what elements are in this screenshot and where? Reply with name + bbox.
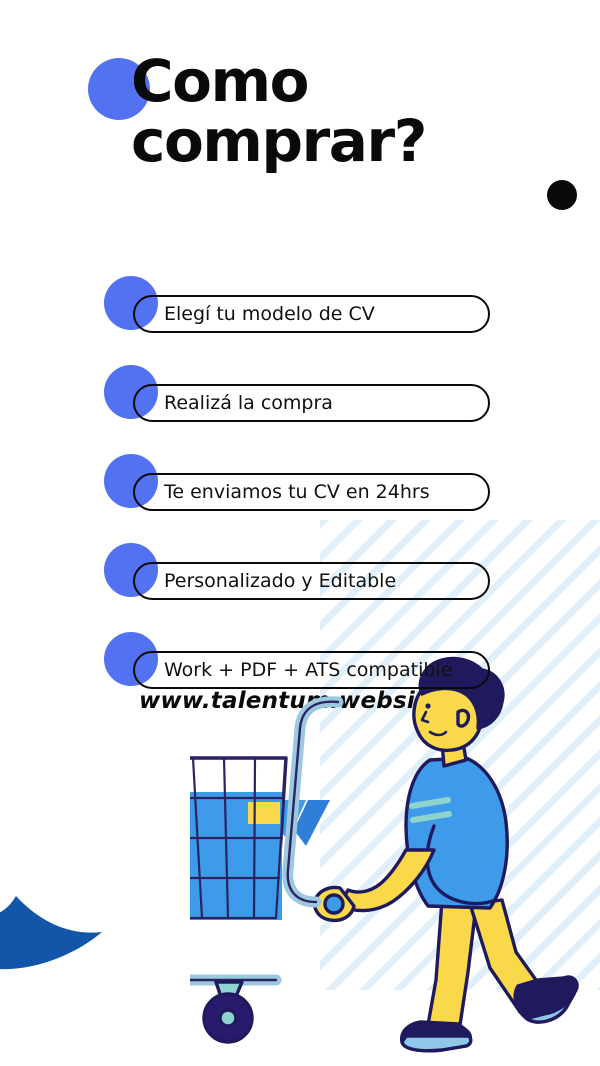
list-item[interactable]: Personalizado y Editable [0,543,600,632]
list-item[interactable]: Elegí tu modelo de CV [0,276,600,365]
step-label: Work + PDF + ATS compatible [135,659,452,681]
step-label: Personalizado y Editable [135,570,396,592]
page-title: Como comprar? [88,52,528,171]
step-pill[interactable]: Elegí tu modelo de CV [133,295,490,333]
step-label: Elegí tu modelo de CV [135,303,375,325]
title-line-2: comprar? [131,107,426,175]
step-pill[interactable]: Te enviamos tu CV en 24hrs [133,473,490,511]
title-line-1: Como [131,47,308,115]
list-item[interactable]: Te enviamos tu CV en 24hrs [0,454,600,543]
person-pushing-cart-illustration [190,650,600,1066]
step-pill[interactable]: Personalizado y Editable [133,562,490,600]
step-pill[interactable]: Realizá la compra [133,384,490,422]
step-label: Realizá la compra [135,392,333,414]
list-item[interactable]: Realizá la compra [0,365,600,454]
step-pill[interactable]: Work + PDF + ATS compatible [133,651,490,689]
step-label: Te enviamos tu CV en 24hrs [135,481,430,503]
story-graphic: Como comprar? Elegí tu modelo de CV Real… [0,0,600,1066]
blue-blob-decoration [0,878,102,970]
